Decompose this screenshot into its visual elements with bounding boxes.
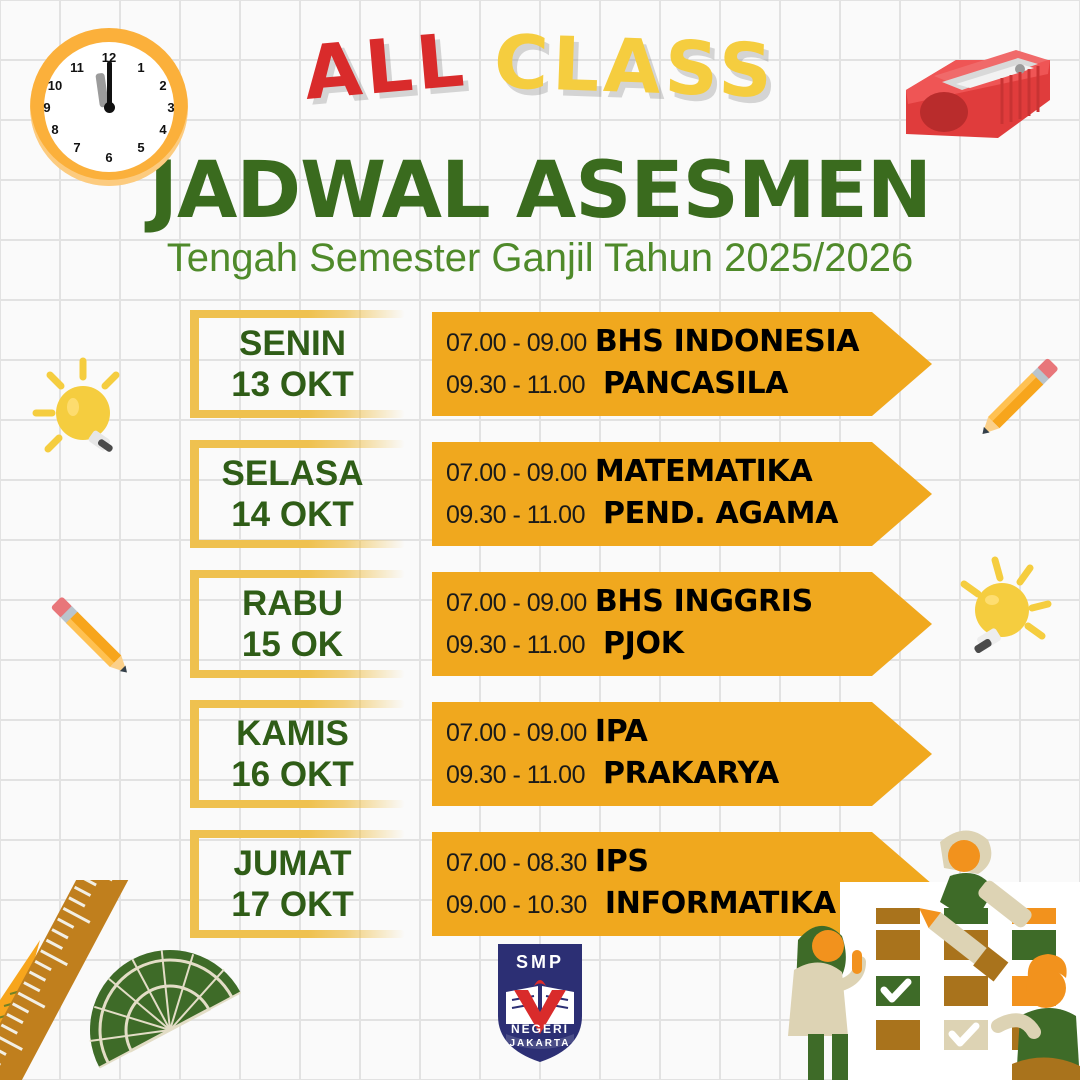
day-label-group: KAMIS 16 OKT bbox=[190, 700, 395, 808]
session-line: 07.00 - 09.00 BHS INGGRIS bbox=[446, 584, 813, 619]
session-time: 07.00 - 08.30 bbox=[446, 849, 587, 878]
day-bracket: KAMIS 16 OKT bbox=[190, 700, 395, 808]
session-subject: IPS bbox=[595, 844, 649, 879]
day-label-group: SELASA 14 OKT bbox=[190, 440, 395, 548]
session-arrow: 07.00 - 09.00 MATEMATIKA 09.30 - 11.00 P… bbox=[432, 442, 932, 546]
day-name: SENIN bbox=[239, 323, 346, 364]
session-time: 09.30 - 11.00 bbox=[446, 761, 585, 790]
logo-text-smp: SMP bbox=[488, 952, 592, 973]
clock-minute-hand bbox=[107, 61, 112, 107]
session-arrow: 07.00 - 09.00 BHS INDONESIA 09.30 - 11.0… bbox=[432, 312, 932, 416]
day-name: JUMAT bbox=[234, 843, 352, 884]
session-line: 09.30 - 11.00 PRAKARYA bbox=[446, 756, 779, 791]
session-time: 09.00 - 10.30 bbox=[446, 891, 587, 920]
session-subject: PJOK bbox=[603, 626, 684, 661]
session-line: 09.30 - 11.00 PJOK bbox=[446, 626, 684, 661]
session-subject: BHS INGGRIS bbox=[595, 584, 813, 619]
day-bracket: SELASA 14 OKT bbox=[190, 440, 395, 548]
day-date: 15 OK bbox=[242, 624, 343, 665]
clock-numeral: 11 bbox=[0, 60, 156, 75]
session-line: 07.00 - 08.30 IPS bbox=[446, 844, 649, 879]
session-line: 07.00 - 09.00 BHS INDONESIA bbox=[446, 324, 859, 359]
day-date: 16 OKT bbox=[231, 754, 354, 795]
pencil-sharpener-icon bbox=[898, 38, 1058, 148]
session-line: 07.00 - 09.00 MATEMATIKA bbox=[446, 454, 812, 489]
session-line: 09.00 - 10.30 INFORMATIKA bbox=[446, 886, 836, 921]
students-checklist-illustration bbox=[780, 820, 1080, 1080]
lightbulb-icon bbox=[28, 355, 138, 465]
session-time: 07.00 - 09.00 bbox=[446, 719, 587, 748]
session-subject: PANCASILA bbox=[603, 366, 788, 401]
logo-text-jakarta: JAKARTA bbox=[488, 1038, 592, 1049]
day-bracket: RABU 15 OK bbox=[190, 570, 395, 678]
clock-numeral: 7 bbox=[0, 140, 156, 155]
session-arrow: 07.00 - 09.00 IPA 09.30 - 11.00 PRAKARYA bbox=[432, 702, 932, 806]
session-line: 09.30 - 11.00 PEND. AGAMA bbox=[446, 496, 838, 531]
pencil-icon bbox=[28, 575, 158, 705]
day-name: RABU bbox=[242, 583, 343, 624]
lightbulb-icon bbox=[950, 552, 1060, 662]
day-date: 14 OKT bbox=[231, 494, 354, 535]
session-subject: PRAKARYA bbox=[603, 756, 779, 791]
pencil-icon bbox=[950, 335, 1080, 465]
day-label-group: SENIN 13 OKT bbox=[190, 310, 395, 418]
schedule-row: SELASA 14 OKT 07.00 - 09.00 MATEMATIKA 0… bbox=[0, 440, 1080, 560]
schedule-row: RABU 15 OK 07.00 - 09.00 BHS INGGRIS 09.… bbox=[0, 570, 1080, 690]
session-subject: PEND. AGAMA bbox=[603, 496, 838, 531]
clock-numeral: 8 bbox=[0, 122, 134, 137]
day-date: 13 OKT bbox=[231, 364, 354, 405]
clock-icon: 12 1 2 3 4 5 6 7 8 9 10 11 bbox=[30, 28, 188, 186]
day-bracket: SENIN 13 OKT bbox=[190, 310, 395, 418]
session-subject: MATEMATIKA bbox=[595, 454, 813, 489]
session-time: 07.00 - 09.00 bbox=[446, 329, 587, 358]
schedule-row: SENIN 13 OKT 07.00 - 09.00 BHS INDONESIA… bbox=[0, 310, 1080, 430]
session-arrow: 07.00 - 09.00 BHS INGGRIS 09.30 - 11.00 … bbox=[432, 572, 932, 676]
schedule-row: KAMIS 16 OKT 07.00 - 09.00 IPA 09.30 - 1… bbox=[0, 700, 1080, 820]
session-subject: BHS INDONESIA bbox=[595, 324, 859, 359]
session-time: 09.30 - 11.00 bbox=[446, 371, 585, 400]
session-time: 09.30 - 11.00 bbox=[446, 631, 585, 660]
session-line: 07.00 - 09.00 IPA bbox=[446, 714, 648, 749]
session-subject: IPA bbox=[595, 714, 648, 749]
poster-canvas: ALLCLASS JADWAL ASESMEN Tengah Semester … bbox=[0, 0, 1080, 1080]
school-logo: SMP NEGERI JAKARTA bbox=[488, 938, 592, 1066]
session-time: 09.30 - 11.00 bbox=[446, 501, 585, 530]
clock-center-pin bbox=[104, 102, 115, 113]
measuring-tools-group bbox=[0, 880, 280, 1080]
clock-numeral: 10 bbox=[0, 78, 134, 93]
day-label-group: RABU 15 OK bbox=[190, 570, 395, 678]
session-time: 07.00 - 09.00 bbox=[446, 589, 587, 618]
logo-text-negeri: NEGERI bbox=[488, 1022, 592, 1036]
session-line: 09.30 - 11.00 PANCASILA bbox=[446, 366, 788, 401]
day-name: KAMIS bbox=[236, 713, 349, 754]
day-name: SELASA bbox=[222, 453, 364, 494]
session-time: 07.00 - 09.00 bbox=[446, 459, 587, 488]
